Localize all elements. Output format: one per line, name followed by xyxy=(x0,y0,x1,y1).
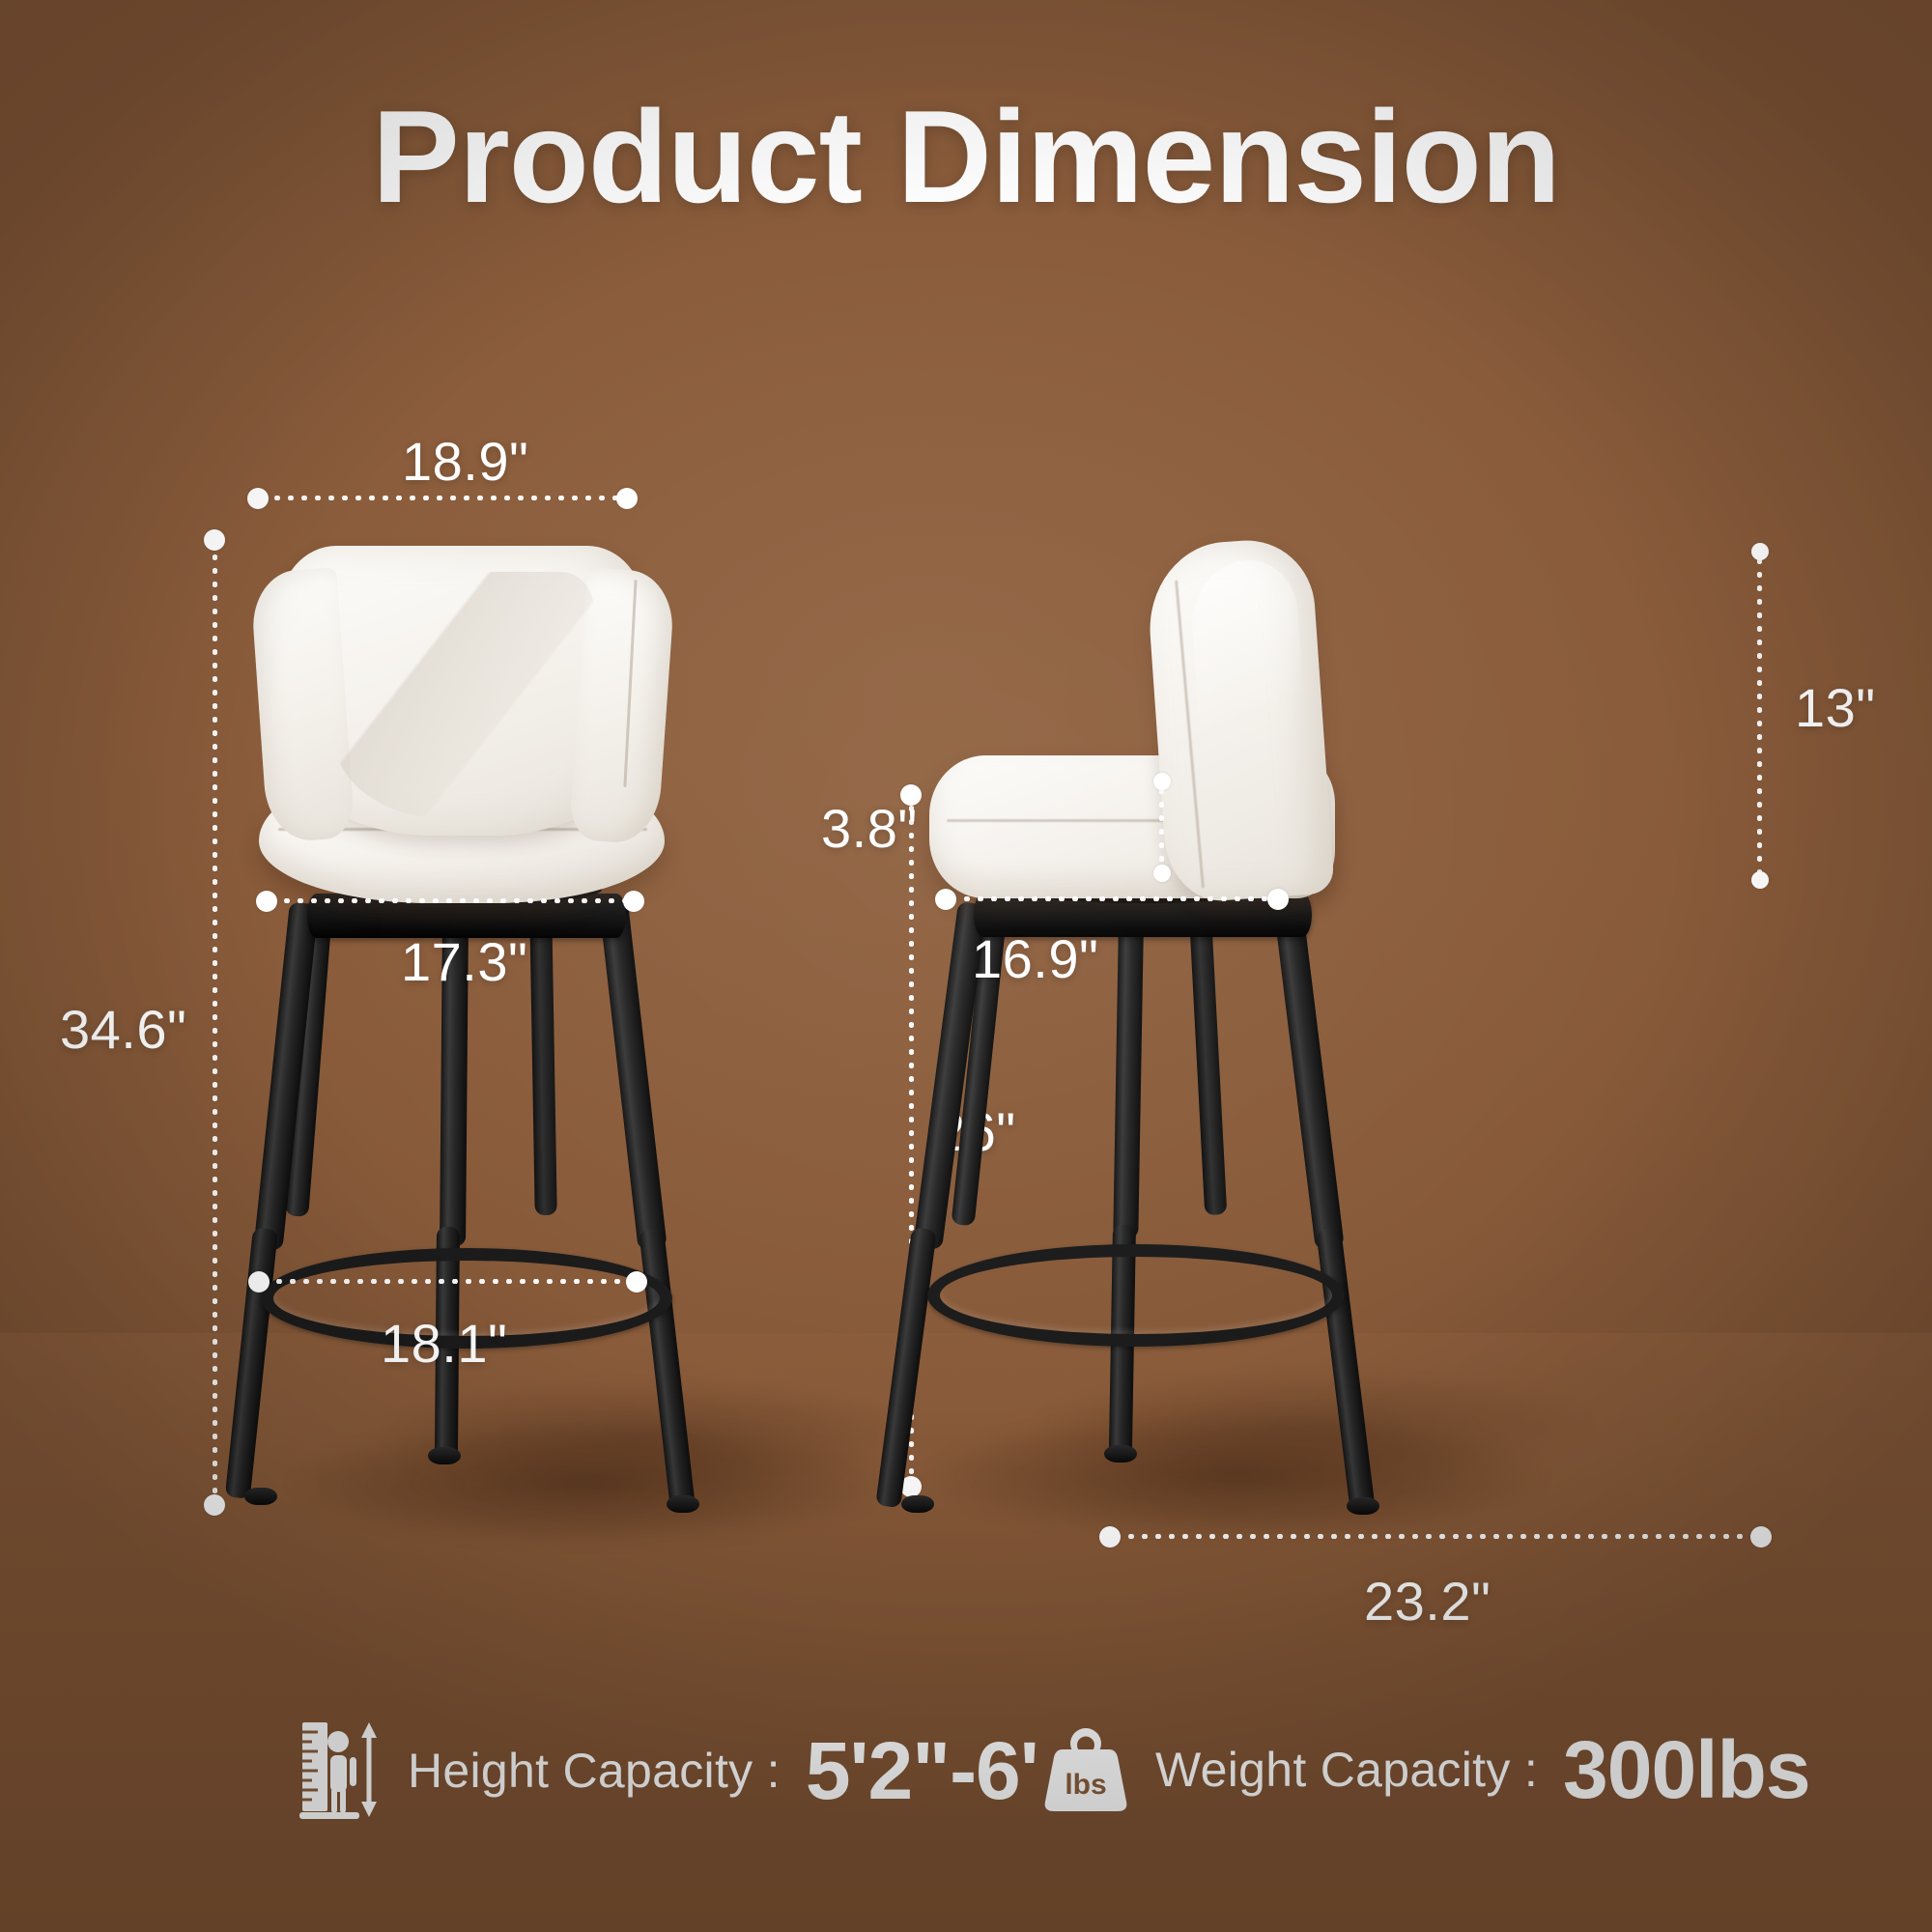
dimension-line-backrest-height xyxy=(1757,554,1762,877)
dimension-label-seat-width: 17.3" xyxy=(401,930,527,993)
dimension-label-backrest-height: 13" xyxy=(1795,676,1876,739)
weight-capacity-label: Weight Capacity : xyxy=(1155,1742,1538,1798)
dimension-line-seat-depth xyxy=(947,896,1277,901)
dimension-endpoint xyxy=(247,488,269,509)
dimension-endpoint xyxy=(204,1494,225,1516)
dimension-label-overall-depth: 23.2" xyxy=(1364,1570,1491,1633)
dimension-label-footrest-width: 18.1" xyxy=(381,1312,507,1375)
dimension-line-footrest-width xyxy=(259,1279,636,1284)
weight-icon-text: lbs xyxy=(1065,1769,1106,1801)
footrest-ring xyxy=(927,1244,1345,1347)
chair-foot-rear-near xyxy=(901,1495,934,1513)
dimension-endpoint xyxy=(623,891,644,912)
chair-foot-front-left xyxy=(244,1488,277,1505)
chair-foot-front-right xyxy=(667,1495,699,1513)
chair-leg-front-left-lower xyxy=(225,1228,278,1499)
dimension-label-overall-width: 18.9" xyxy=(402,430,528,493)
dimension-label-seat-thickness: 3.8" xyxy=(821,797,918,860)
dimension-line-overall-depth xyxy=(1111,1534,1760,1539)
weight-capacity-group: lbs Weight Capacity : 300lbs xyxy=(1041,1724,1810,1815)
dimension-endpoint xyxy=(616,488,638,509)
dimension-line-seat-width xyxy=(267,898,634,903)
chair-leg-center xyxy=(1113,920,1144,1238)
dimension-endpoint xyxy=(204,529,225,551)
chair-leg-front-near xyxy=(1273,901,1345,1250)
dimension-line-seat-thickness xyxy=(1159,784,1164,869)
dimension-endpoint xyxy=(1751,871,1769,889)
dimension-endpoint xyxy=(1267,889,1289,910)
weight-lbs-icon: lbs xyxy=(1041,1724,1130,1815)
weight-capacity-value: 300lbs xyxy=(1563,1729,1810,1810)
dimension-line-overall-width xyxy=(257,496,634,500)
capacity-bar: Height Capacity : 5'2"-6' lbs Weight Cap… xyxy=(0,1715,1932,1840)
dimension-label-overall-height: 34.6" xyxy=(60,998,186,1061)
infographic-canvas: Product Dimension xyxy=(0,0,1932,1932)
chair-leg-rear-near-lower xyxy=(875,1227,937,1508)
height-capacity-label: Height Capacity : xyxy=(408,1743,781,1799)
dimension-endpoint xyxy=(935,889,956,910)
dimension-endpoint xyxy=(1751,543,1769,560)
dimension-endpoint xyxy=(1099,1526,1121,1548)
chair-leg-front-far xyxy=(1188,895,1227,1215)
dimension-line-overall-height xyxy=(213,537,217,1503)
chair-leg-back-right xyxy=(529,896,557,1215)
chair-side-view: 3.8" 13" 16.9" 23.2" xyxy=(869,0,1932,1642)
backrest-highlight xyxy=(1188,557,1315,854)
chair-foot-front-near xyxy=(1347,1497,1379,1515)
dimension-endpoint xyxy=(1153,773,1171,790)
height-capacity-group: Height Capacity : 5'2"-6' xyxy=(299,1720,1038,1821)
dimension-endpoint xyxy=(248,1271,270,1293)
dimension-endpoint xyxy=(1153,865,1171,882)
height-capacity-value: 5'2"-6' xyxy=(806,1730,1038,1811)
height-ruler-icon xyxy=(299,1720,383,1821)
dimension-endpoint xyxy=(626,1271,647,1293)
dimension-label-seat-depth: 16.9" xyxy=(972,927,1098,990)
chair-leg-front-right xyxy=(599,901,668,1250)
dimension-endpoint xyxy=(1750,1526,1772,1548)
chair-foot-center-rear xyxy=(428,1447,461,1464)
chair-foot-center xyxy=(1104,1445,1137,1463)
backrest-inner-shade xyxy=(333,572,594,818)
dimension-endpoint xyxy=(256,891,277,912)
